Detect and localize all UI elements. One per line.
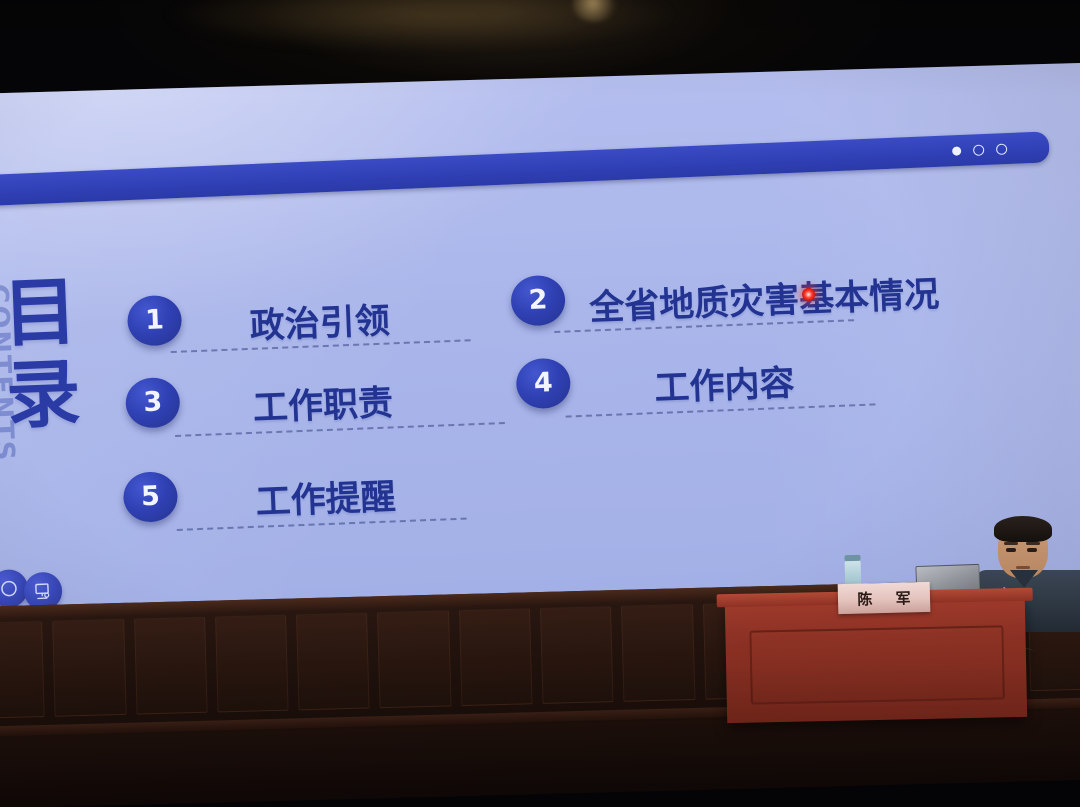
toc-badge-4: 4 [515, 357, 571, 409]
speaker-hair [994, 516, 1052, 542]
speaker-eye-right [1027, 548, 1037, 552]
rostrum-panel [134, 617, 208, 715]
toc-badge-1: 1 [127, 295, 183, 347]
toc-number-1: 1 [145, 306, 165, 334]
screenshot-root: CONTENTS 目 录 1 政治引领 2 全省地质灾害基本情况 3 [0, 0, 1080, 807]
toc-number-2: 2 [528, 286, 548, 314]
rostrum-panel [459, 608, 533, 706]
rostrum-panel [377, 610, 451, 708]
toc-label-2: 全省地质灾害基本情况 [588, 266, 940, 331]
contents-char-1: 目 [2, 271, 79, 356]
rostrum-panel [296, 613, 370, 711]
podium-front-panel [749, 625, 1004, 704]
toc-number-4: 4 [533, 369, 553, 397]
rostrum-panel [215, 615, 289, 713]
nameplate: 陈 军 [838, 582, 931, 614]
speaker-brow-left [1004, 542, 1018, 545]
toc-badge-5: 5 [123, 471, 179, 523]
toc-label-1: 政治引领 [249, 292, 391, 348]
rostrum-panel [52, 619, 126, 717]
toc-badge-2: 2 [510, 275, 566, 327]
toc-label-4: 工作内容 [653, 355, 795, 411]
podium [725, 597, 1027, 723]
bottle-cap [844, 555, 860, 561]
contents-chinese-label: 目 录 [2, 271, 82, 438]
rostrum-panel [621, 604, 695, 702]
toc-label-5: 工作提醒 [255, 468, 397, 524]
speaker-eye-left [1006, 548, 1016, 552]
speaker-brow-right [1026, 542, 1040, 545]
toc-label-3: 工作职责 [252, 374, 394, 430]
speaker-mouth [1016, 566, 1030, 569]
toc-number-3: 3 [143, 388, 163, 416]
rostrum-panel [0, 621, 45, 719]
contents-char-2: 录 [5, 353, 82, 438]
nameplate-text: 陈 军 [848, 587, 920, 610]
toc-number-5: 5 [141, 482, 161, 510]
rostrum-panel [540, 606, 614, 704]
toc-badge-3: 3 [125, 377, 181, 429]
